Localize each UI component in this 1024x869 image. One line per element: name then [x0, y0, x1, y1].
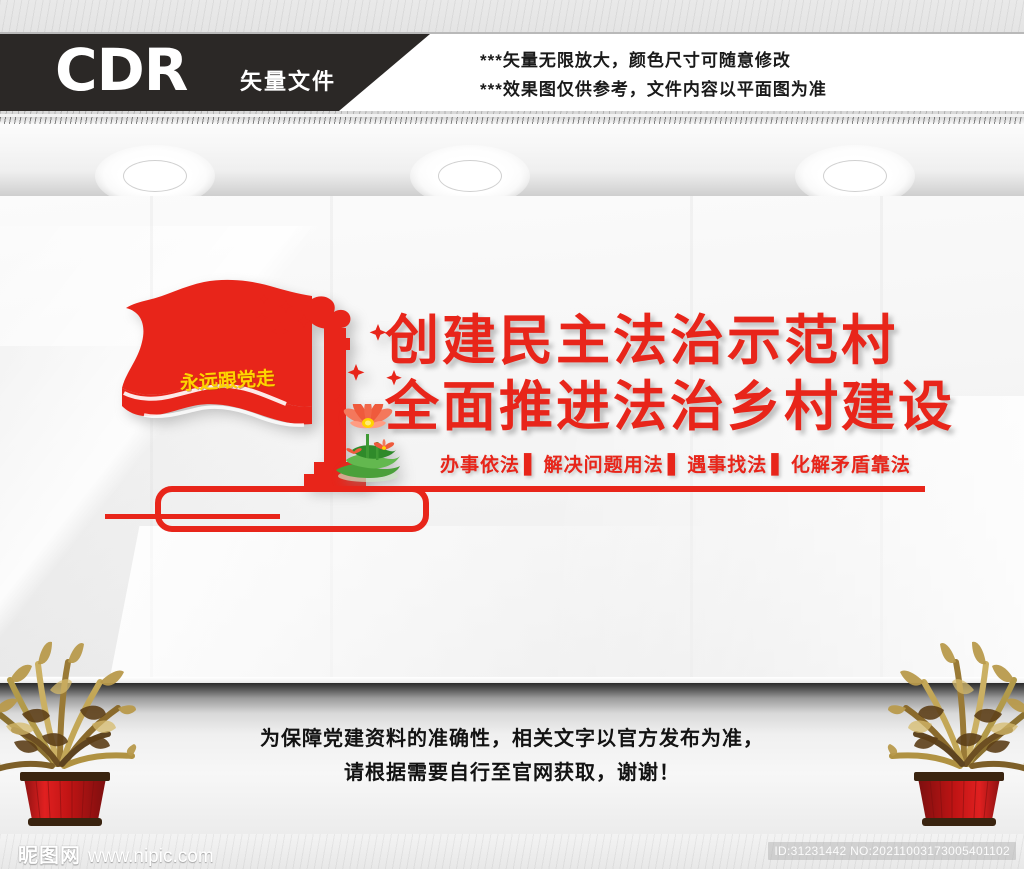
main-title-line-1: 创建民主法治示范村	[385, 308, 945, 374]
subtitle-item-1: 办事依法	[440, 454, 520, 476]
subtitle-separator: ▌	[520, 454, 544, 476]
asset-id-code: ID:31231442 NO:20211003173005401102	[768, 842, 1016, 860]
screenshot-stage: CDR 矢量文件 ***矢量无限放大，颜色尺寸可随意修改 ***效果图仅供参考，…	[0, 0, 1024, 869]
main-title-line-2: 全面推进法治乡村建设	[385, 374, 945, 440]
disclaimer-text: 为保障党建资料的准确性，相关文字以官方发布为准， 请根据需要自行至官网获取，谢谢…	[0, 722, 1024, 790]
subtitle-item-2: 解决问题用法	[544, 454, 664, 476]
baseline-loop	[155, 486, 429, 532]
subtitle-separator: ▌	[767, 454, 791, 476]
subtitle-item-4: 化解矛盾靠法	[791, 454, 911, 476]
subtitle-item-3: 遇事找法	[687, 454, 767, 476]
cdr-logo: CDR	[55, 41, 187, 99]
header-note-line-2: ***效果图仅供参考，文件内容以平面图为准	[480, 75, 1000, 104]
potted-plant-icon	[0, 614, 138, 834]
top-hatch-strip	[0, 0, 1024, 34]
main-title-block: 创建民主法治示范村 全面推进法治乡村建设	[385, 308, 945, 440]
subtitle-separator: ▌	[664, 454, 688, 476]
site-name-cn: 昵图网	[18, 839, 81, 868]
cdr-logo-subtitle: 矢量文件	[240, 70, 336, 94]
potted-plant-icon	[886, 614, 1024, 834]
watermark-bar: 昵图网 www.nipic.com ID:31231442 NO:2021100…	[0, 834, 1024, 869]
subtitle-row: 办事依法▌解决问题用法▌遇事找法▌化解矛盾靠法	[440, 452, 910, 478]
ceiling-edge	[0, 117, 1024, 124]
disclaimer-line-2: 请根据需要自行至官网获取，谢谢！	[0, 756, 1024, 790]
emblem-baseline	[105, 486, 925, 530]
flag-slogan: 永远跟党走	[180, 370, 276, 394]
header-band: CDR 矢量文件 ***矢量无限放大，颜色尺寸可随意修改 ***效果图仅供参考，…	[0, 34, 1024, 114]
baseline-tail	[105, 514, 280, 519]
site-watermark: 昵图网 www.nipic.com	[18, 839, 214, 868]
site-url: www.nipic.com	[88, 846, 214, 868]
header-notes: ***矢量无限放大，颜色尺寸可随意修改 ***效果图仅供参考，文件内容以平面图为…	[480, 46, 1000, 104]
disclaimer-line-1: 为保障党建资料的准确性，相关文字以官方发布为准，	[0, 722, 1024, 756]
header-note-line-1: ***矢量无限放大，颜色尺寸可随意修改	[480, 46, 1000, 75]
